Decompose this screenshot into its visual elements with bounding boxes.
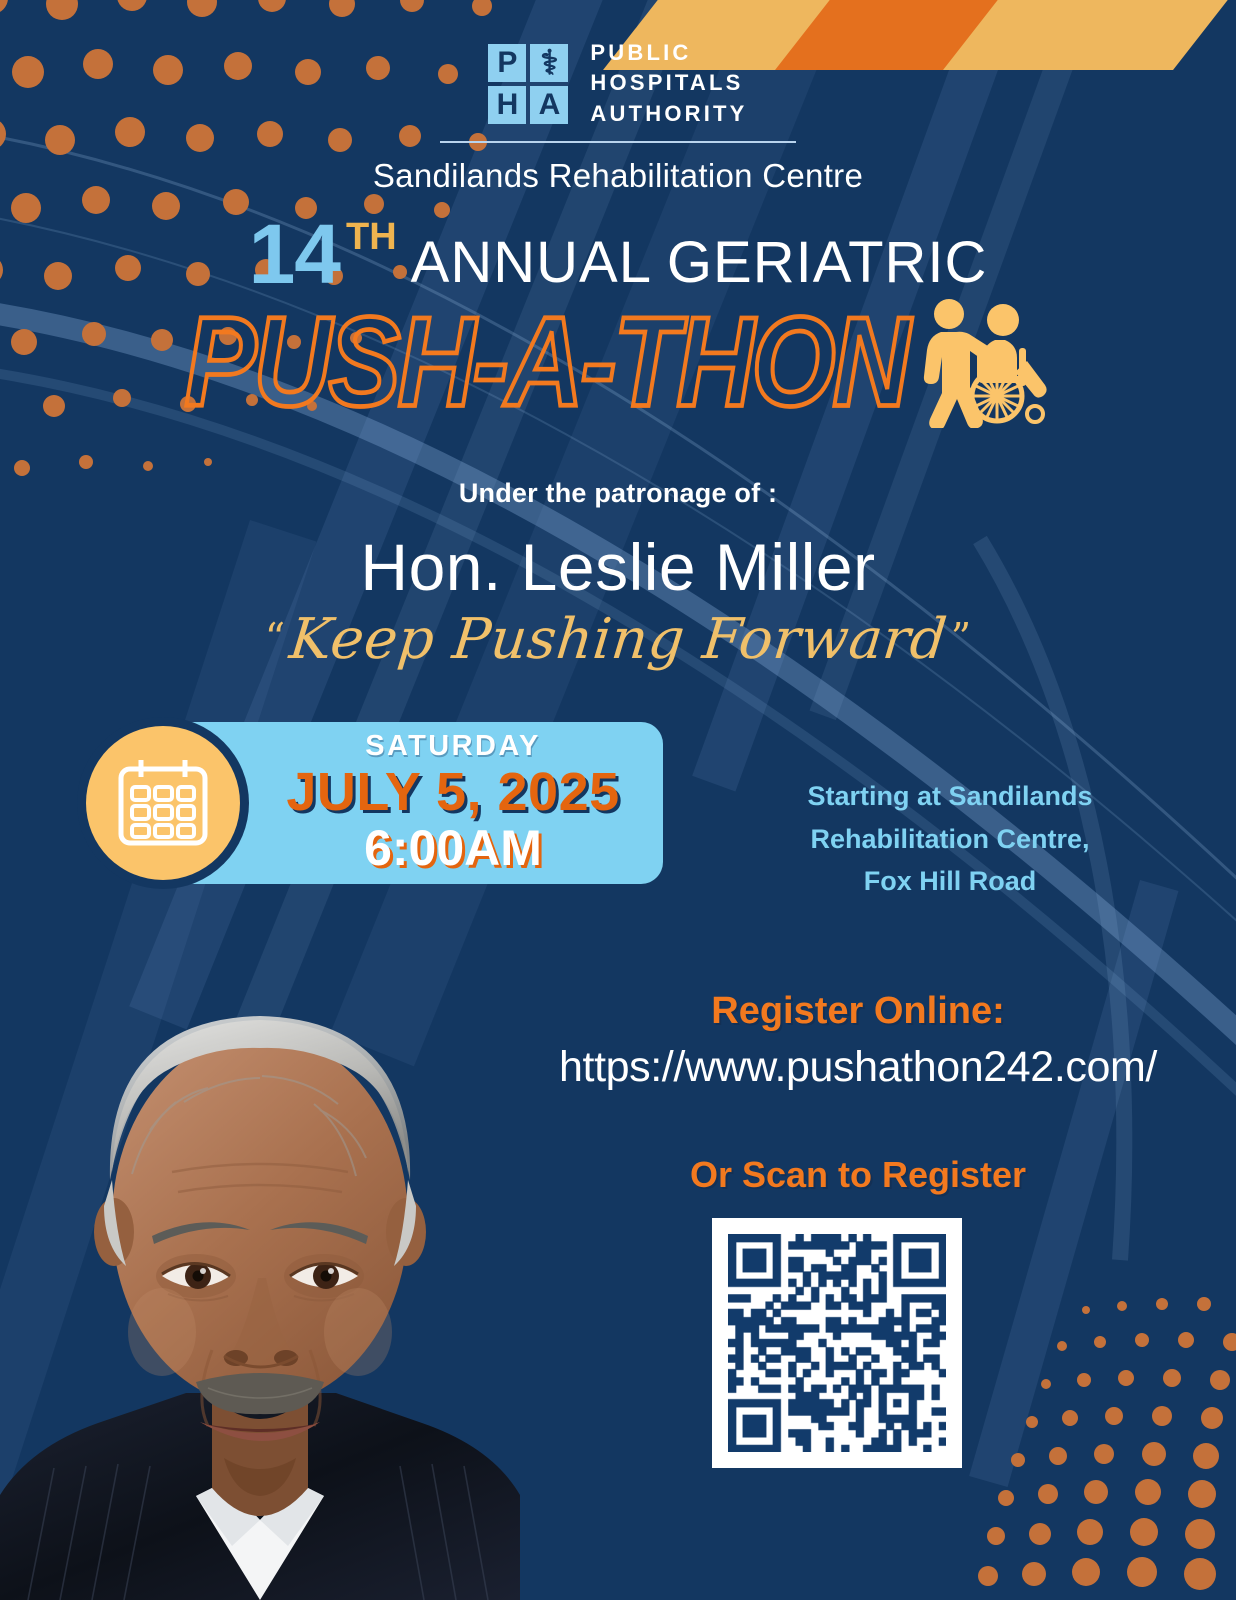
location-line-3: Fox Hill Road	[700, 860, 1200, 903]
title-line-annual: 14 TH ANNUAL GERIATRIC	[0, 212, 1236, 296]
register-online-heading: Register Online:	[480, 990, 1236, 1033]
event-flyer: P ⚕ H A PUBLIC HOSPITALS AUTHORITY Sandi…	[0, 0, 1236, 1600]
event-date: JULY 5, 2025	[286, 763, 619, 821]
pha-logo-grid: P ⚕ H A	[488, 44, 568, 124]
event-name: PUSH-A-THON	[185, 295, 908, 429]
pha-logo-wordmark: PUBLIC HOSPITALS AUTHORITY	[590, 38, 747, 129]
logo-letter-p: P	[488, 44, 526, 82]
pha-logo: P ⚕ H A PUBLIC HOSPITALS AUTHORITY	[488, 38, 747, 129]
logo-letter-h: H	[488, 86, 526, 124]
organisation-subtitle: Sandilands Rehabilitation Centre	[373, 157, 863, 195]
location-line-2: Rehabilitation Centre,	[700, 818, 1200, 861]
event-location: Starting at Sandilands Rehabilitation Ce…	[700, 775, 1200, 903]
logo-word-hospitals: HOSPITALS	[590, 68, 747, 98]
ordinal-number: 14	[249, 212, 340, 296]
event-name-row: PUSH-A-THON	[0, 288, 1236, 435]
logo-letter-a: A	[530, 86, 568, 124]
header: P ⚕ H A PUBLIC HOSPITALS AUTHORITY Sandi…	[0, 38, 1236, 195]
halftone-dots-bottom-right	[966, 1270, 1236, 1600]
patronage-label: Under the patronage of :	[0, 478, 1236, 509]
qr-code[interactable]	[712, 1218, 962, 1468]
register-url[interactable]: https://www.pushathon242.com/	[480, 1043, 1236, 1092]
ordinal-suffix: TH	[346, 218, 397, 256]
event-day: SATURDAY	[365, 730, 541, 763]
annual-geriatric-text: ANNUAL GERIATRIC	[411, 234, 988, 292]
title-block: 14 TH ANNUAL GERIATRIC PUSH-A-THON	[0, 212, 1236, 435]
scan-to-register-heading: Or Scan to Register	[480, 1154, 1236, 1196]
patronage-block: Under the patronage of : Hon. Leslie Mil…	[0, 478, 1236, 672]
logo-word-public: PUBLIC	[590, 38, 747, 68]
patron-quote: “ Keep Pushing Forward ”	[0, 605, 1236, 672]
location-line-1: Starting at Sandilands	[700, 775, 1200, 818]
wheelchair-push-icon	[911, 288, 1051, 433]
caduceus-icon: ⚕	[530, 44, 568, 82]
quote-open-mark: “	[265, 616, 285, 662]
date-badge: SATURDAY JULY 5, 2025 6:00AM	[173, 722, 663, 884]
calendar-icon	[115, 757, 211, 849]
patron-name: Hon. Leslie Miller	[0, 529, 1236, 605]
patron-portrait-photo	[0, 880, 520, 1600]
header-divider	[440, 141, 796, 143]
quote-close-mark: ”	[951, 616, 971, 662]
event-time: 6:00AM	[364, 821, 542, 876]
logo-word-authority: AUTHORITY	[590, 99, 747, 129]
calendar-icon-badge	[86, 726, 240, 880]
register-block: Register Online: https://www.pushathon24…	[480, 990, 1236, 1196]
quote-text: Keep Pushing Forward	[286, 607, 949, 672]
qr-code-canvas[interactable]	[728, 1234, 946, 1452]
